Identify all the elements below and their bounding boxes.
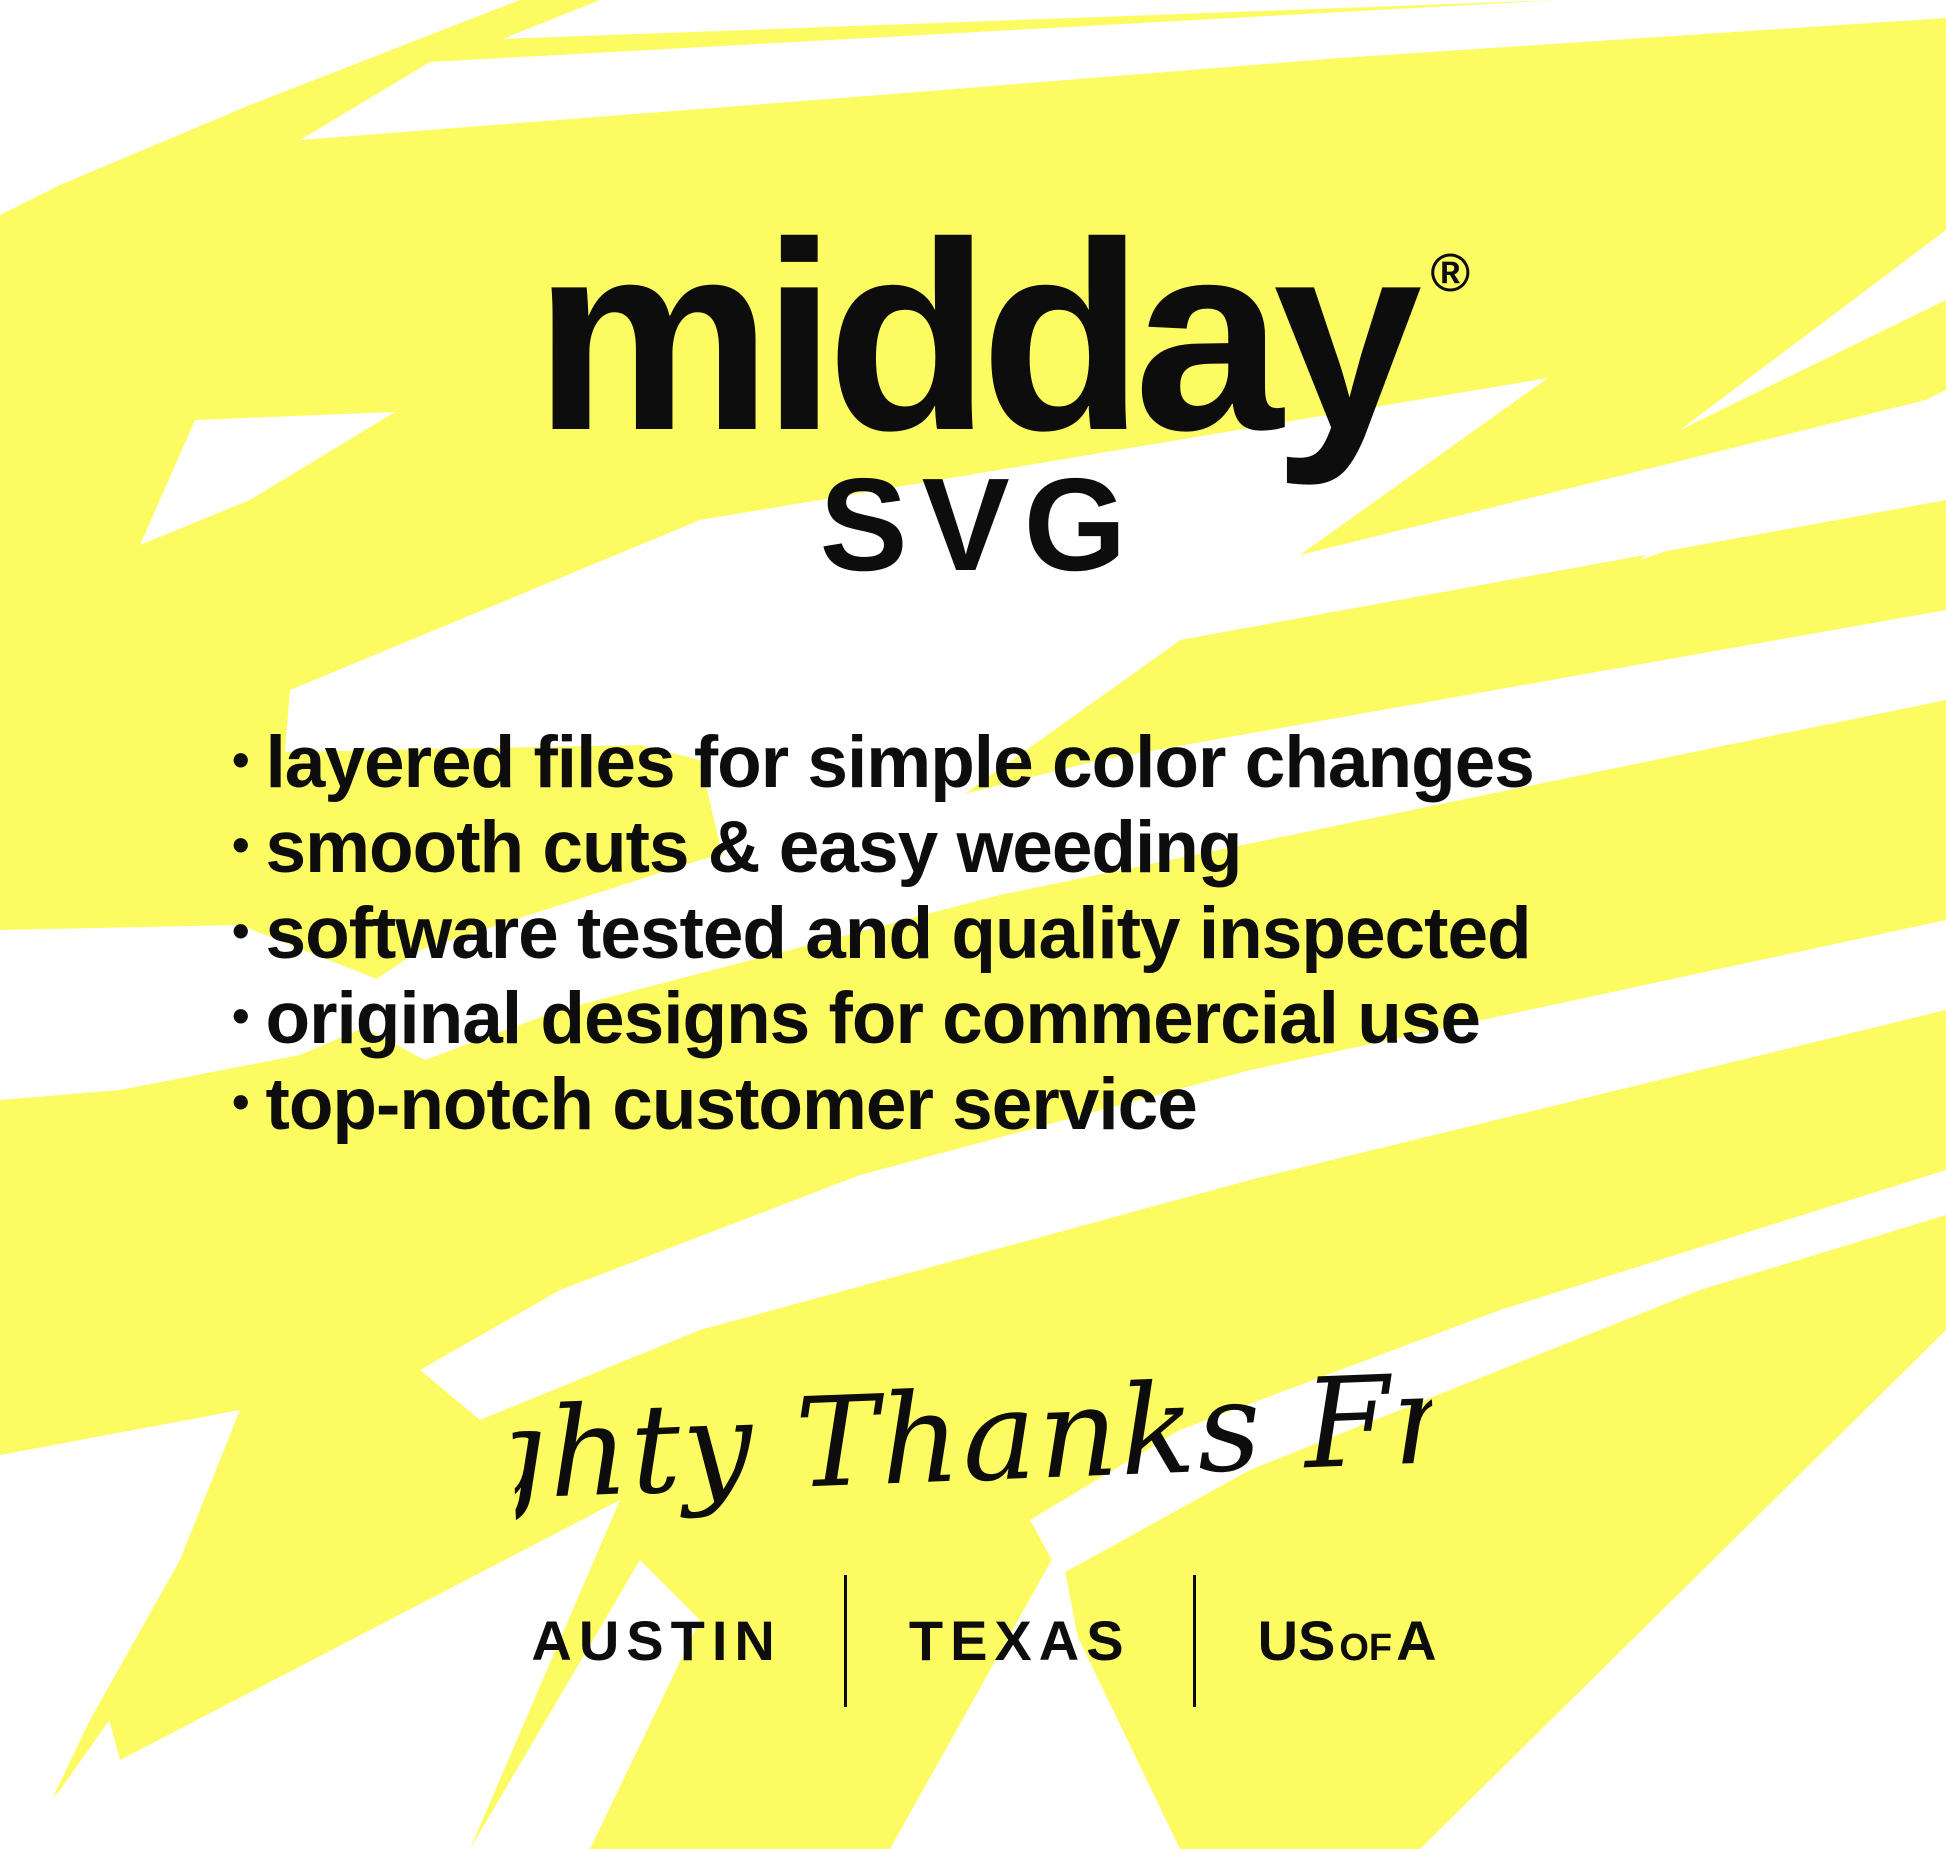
country-suffix: A <box>1396 1609 1436 1672</box>
location-country: USOFA <box>1196 1613 1477 1669</box>
list-item: • layered files for simple color changes <box>232 720 1752 805</box>
country-prefix: US <box>1258 1609 1336 1672</box>
location-city: AUSTIN <box>469 1613 843 1669</box>
bullet-icon: • <box>232 820 249 870</box>
bullet-icon: • <box>232 1077 249 1127</box>
location-strip: AUSTIN TEXAS USOFA <box>0 1575 1946 1707</box>
poster-content: midday ® SVG • layered files for simple … <box>0 0 1946 1849</box>
feature-label: software tested and quality inspected <box>266 891 1531 976</box>
list-item: • software tested and quality inspected <box>232 891 1752 976</box>
brand-lockup: midday ® SVG <box>0 232 1946 600</box>
feature-label: layered files for simple color changes <box>266 720 1534 805</box>
registered-trademark-icon: ® <box>1430 246 1470 300</box>
bullet-icon: • <box>232 906 249 956</box>
brand-name: midday <box>534 232 1412 441</box>
signature-script: Mighty Thanks From <box>0 1293 1946 1578</box>
list-item: • original designs for commercial use <box>232 976 1752 1061</box>
feature-label: smooth cuts & easy weeding <box>266 805 1242 890</box>
signature-text: Mighty Thanks From <box>509 1340 1436 1536</box>
location-state: TEXAS <box>847 1613 1193 1669</box>
bullet-icon: • <box>232 991 249 1041</box>
list-item: • top-notch customer service <box>232 1062 1752 1147</box>
bullet-icon: • <box>232 735 249 785</box>
country-connector: OF <box>1335 1629 1396 1667</box>
signature-artwork: Mighty Thanks From <box>509 1312 1436 1557</box>
feature-label: top-notch customer service <box>266 1062 1197 1147</box>
feature-label: original designs for commercial use <box>266 976 1480 1061</box>
poster-canvas: midday ® SVG • layered files for simple … <box>0 0 1946 1849</box>
feature-list: • layered files for simple color changes… <box>232 720 1752 1147</box>
list-item: • smooth cuts & easy weeding <box>232 805 1752 890</box>
brand-name-line: midday ® <box>534 232 1412 441</box>
